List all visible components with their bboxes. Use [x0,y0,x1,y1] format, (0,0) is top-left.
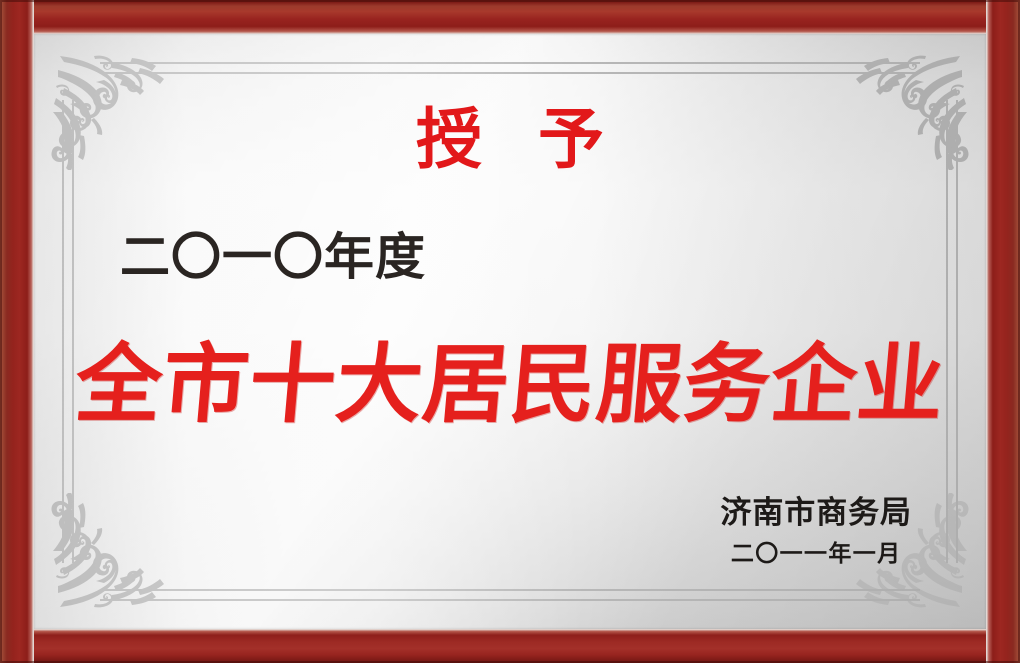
issue-date-text: 二〇一一年一月 [720,542,912,567]
issuer-name-text: 济南市商务局 [720,496,912,530]
issuer-block: 济南市商务局 二〇一一年一月 [720,496,912,567]
award-year-text: 二〇一〇年度 [120,232,426,282]
award-verb-text: 授 予 [0,108,1020,174]
plaque-inscription: 授 予 二〇一〇年度 全市十大居民服务企业 济南市商务局 二〇一一年一月 [0,0,1020,663]
award-plaque: 授 予 二〇一〇年度 全市十大居民服务企业 济南市商务局 二〇一一年一月 [0,0,1020,663]
award-title-text: 全市十大居民服务企业 [0,336,1020,435]
